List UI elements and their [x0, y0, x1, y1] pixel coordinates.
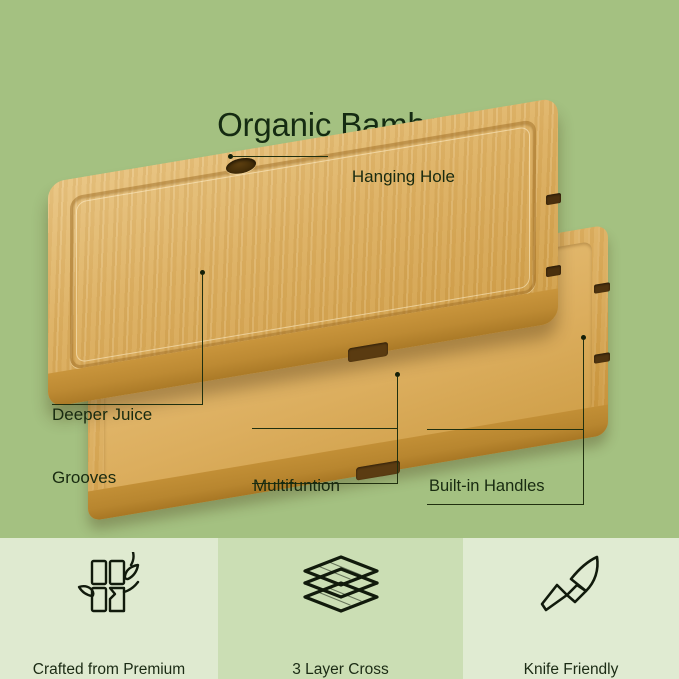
callout-wide-slot-line-1: Multifuntion — [253, 475, 340, 496]
built-in-handles-leader-right — [583, 429, 584, 504]
feature-knife-line-1: Knife Friendly — [524, 660, 619, 679]
stacked-layers-icon — [298, 552, 384, 618]
callout-juice-grooves-line-2: Grooves — [52, 467, 152, 488]
callout-deeper-juice-grooves: Deeper Juice Grooves — [52, 362, 152, 530]
callout-juice-grooves-line-1: Deeper Juice — [52, 404, 152, 425]
built-in-handles-leader-line — [583, 340, 584, 429]
feature-caption-bamboo: Crafted from Premium Alpine Bamboo — [33, 620, 185, 679]
juice-grooves-leader-line — [202, 275, 203, 404]
feature-layers-line-1: 3 Layer Cross — [263, 660, 418, 679]
chef-knife-icon — [531, 552, 611, 618]
feature-strip: Crafted from Premium Alpine Bamboo — [0, 538, 679, 679]
wide-slot-leader-line — [397, 377, 398, 428]
callout-hanging-hole-text: Hanging Hole — [352, 167, 455, 186]
product-infographic: Organic Bamboo Elevate Your Kitchen Styl… — [0, 0, 679, 679]
bamboo-stalk-icon — [71, 552, 147, 618]
feature-panel-knife: Knife Friendly Surface — [463, 538, 679, 679]
feature-panel-bamboo: Crafted from Premium Alpine Bamboo — [0, 538, 218, 679]
callout-hanging-hole: Hanging Hole — [333, 145, 455, 208]
feature-caption-layers: 3 Layer Cross -laminated Techniques — [263, 620, 418, 679]
feature-panel-layers: 3 Layer Cross -laminated Techniques — [218, 538, 463, 679]
feature-bamboo-line-1: Crafted from Premium — [33, 660, 185, 679]
hanging-hole-leader-line — [233, 156, 328, 157]
wide-slot-leader-top — [252, 428, 398, 429]
wide-slot-leader-right — [397, 428, 398, 483]
built-in-handle-slot — [546, 193, 561, 206]
built-in-handles-leader-top — [427, 429, 584, 430]
callout-handles-line-1: Built-in Handles — [429, 476, 545, 497]
feature-caption-knife: Knife Friendly Surface — [524, 620, 619, 679]
